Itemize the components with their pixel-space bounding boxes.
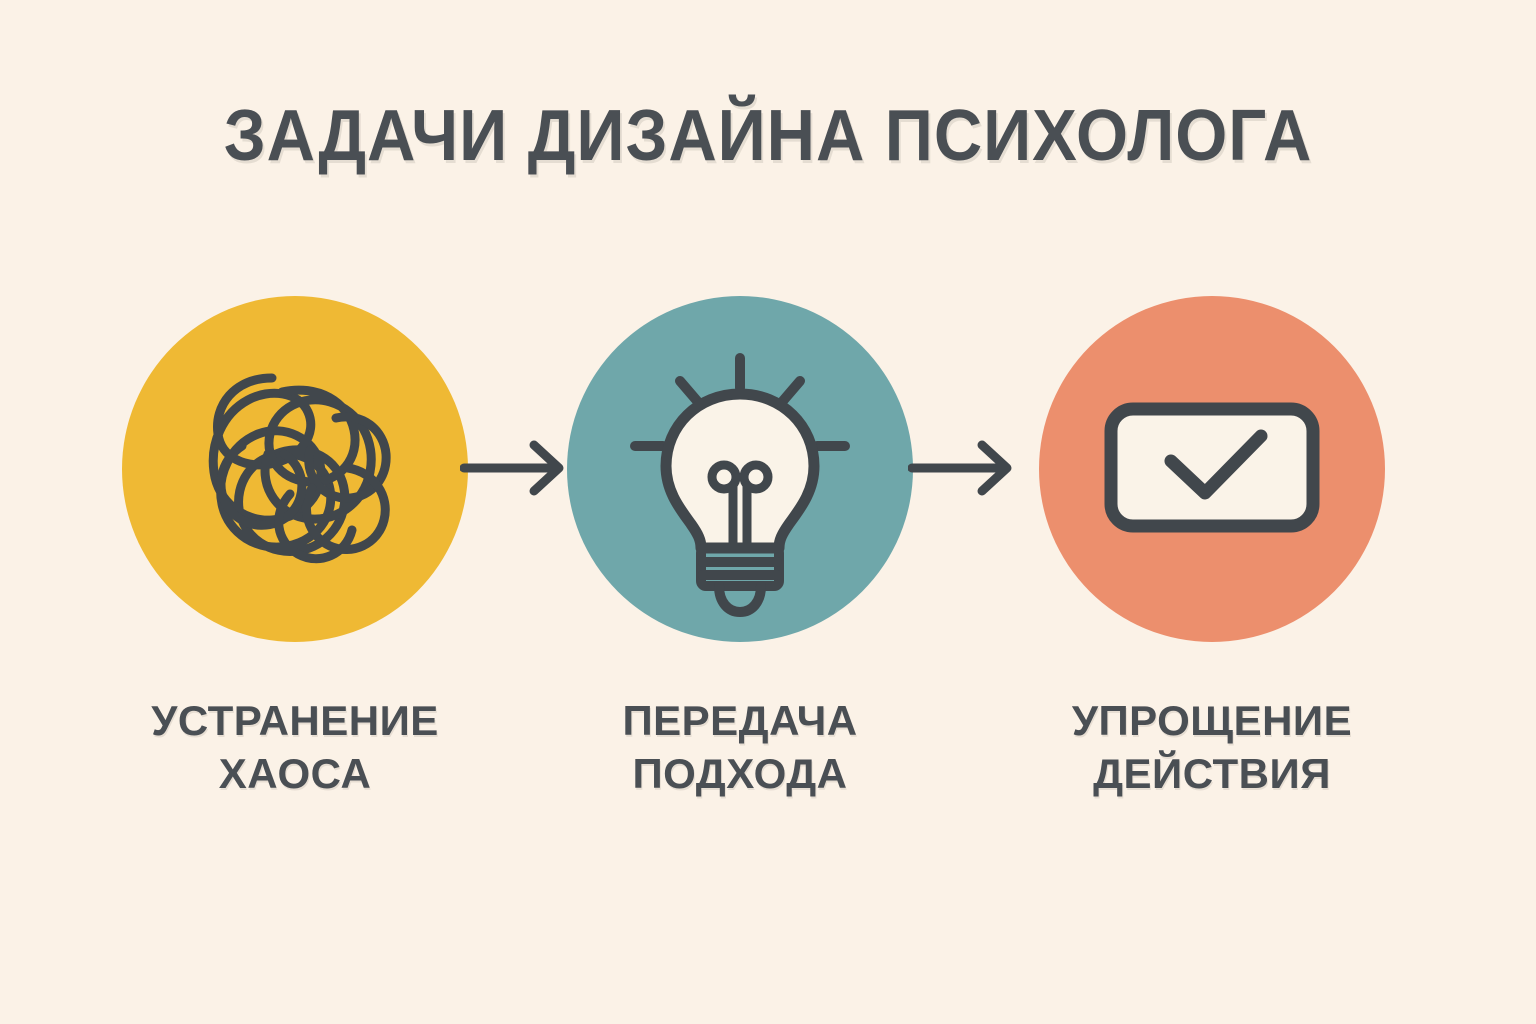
steps-row	[0, 296, 1536, 644]
step-1-caption-line-2: ХАОСА	[45, 747, 545, 800]
arrow-right-icon-2	[908, 437, 1028, 499]
step-2-caption: ПЕРЕДАЧА ПОДХОДА	[520, 694, 960, 800]
ray-top-right	[782, 381, 800, 402]
card-outline	[1111, 409, 1313, 526]
step-2-caption-line-1: ПЕРЕДАЧА	[520, 694, 960, 747]
step-3[interactable]	[1039, 296, 1385, 642]
captions-row: УСТРАНЕНИЕ ХАОСА ПЕРЕДАЧА ПОДХОДА УПРОЩЕ…	[0, 694, 1536, 824]
bulb-glass	[666, 394, 814, 548]
arrow-right-icon-1	[460, 437, 580, 499]
page-title: ЗАДАЧИ ДИЗАЙНА ПСИХОЛОГА	[54, 98, 1482, 174]
step-1-caption: УСТРАНЕНИЕ ХАОСА	[45, 694, 545, 800]
step-1-caption-line-1: УСТРАНЕНИЕ	[45, 694, 545, 747]
ray-top-left	[680, 381, 698, 402]
step-3-caption: УПРОЩЕНИЕ ДЕЙСТВИЯ	[970, 694, 1454, 800]
infographic-poster: ЗАДАЧИ ДИЗАЙНА ПСИХОЛОГА	[0, 0, 1536, 1024]
checkbox-card-icon	[1039, 296, 1385, 642]
lightbulb-icon	[567, 296, 913, 642]
step-2[interactable]	[567, 296, 913, 642]
step-2-caption-line-2: ПОДХОДА	[520, 747, 960, 800]
step-3-caption-line-2: ДЕЙСТВИЯ	[970, 747, 1454, 800]
tangled-scribble-icon	[122, 296, 468, 642]
step-1[interactable]	[122, 296, 468, 642]
step-3-caption-line-1: УПРОЩЕНИЕ	[970, 694, 1454, 747]
